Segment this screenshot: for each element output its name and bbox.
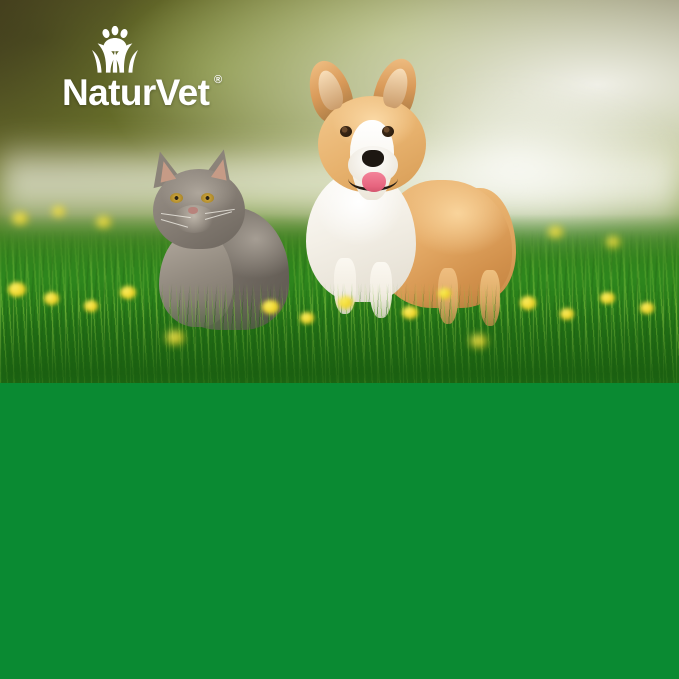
- feeding-directions-panel: FEEDING DIRECTIONS DIGESTIVE ENZYMES DAI…: [0, 383, 679, 679]
- wildflower: [560, 308, 574, 320]
- wildflower: [84, 300, 98, 312]
- paw-and-grass-icon: [62, 26, 172, 78]
- wildflower: [96, 216, 111, 228]
- wildflower: [12, 212, 28, 225]
- wildflower: [44, 292, 59, 305]
- wildflower: [300, 312, 314, 324]
- wildflower: [548, 226, 563, 238]
- wildflower: [600, 292, 615, 304]
- cat-nose: [188, 207, 198, 214]
- brand-wordmark: NaturVet: [62, 74, 209, 111]
- cat-eye-left: [170, 193, 183, 203]
- dog-eye-left: [340, 126, 352, 137]
- wildflower: [640, 302, 654, 314]
- registered-trademark-mark: ®: [214, 74, 222, 86]
- wildflower: [120, 286, 136, 299]
- product-info-card: NaturVet ® FEEDING DIRECTIONS DIGESTIVE …: [0, 0, 679, 679]
- naturvet-logo: NaturVet ®: [62, 26, 222, 116]
- wildflower: [606, 236, 620, 248]
- wildflower: [438, 288, 451, 299]
- wildflower: [262, 300, 279, 314]
- grass-foreground-blur: [0, 299, 679, 383]
- dog-eye-right: [382, 126, 394, 137]
- dog-nose: [362, 150, 384, 167]
- wildflower: [52, 206, 65, 217]
- hero-photo: NaturVet ®: [0, 0, 679, 383]
- dog-tongue: [362, 172, 386, 192]
- wildflower: [470, 334, 487, 348]
- wildflower: [520, 296, 536, 310]
- wildflower: [8, 282, 26, 297]
- wildflower: [166, 330, 184, 345]
- wildflower: [402, 306, 418, 319]
- wildflower: [338, 296, 353, 309]
- cat-eye-right: [201, 193, 214, 203]
